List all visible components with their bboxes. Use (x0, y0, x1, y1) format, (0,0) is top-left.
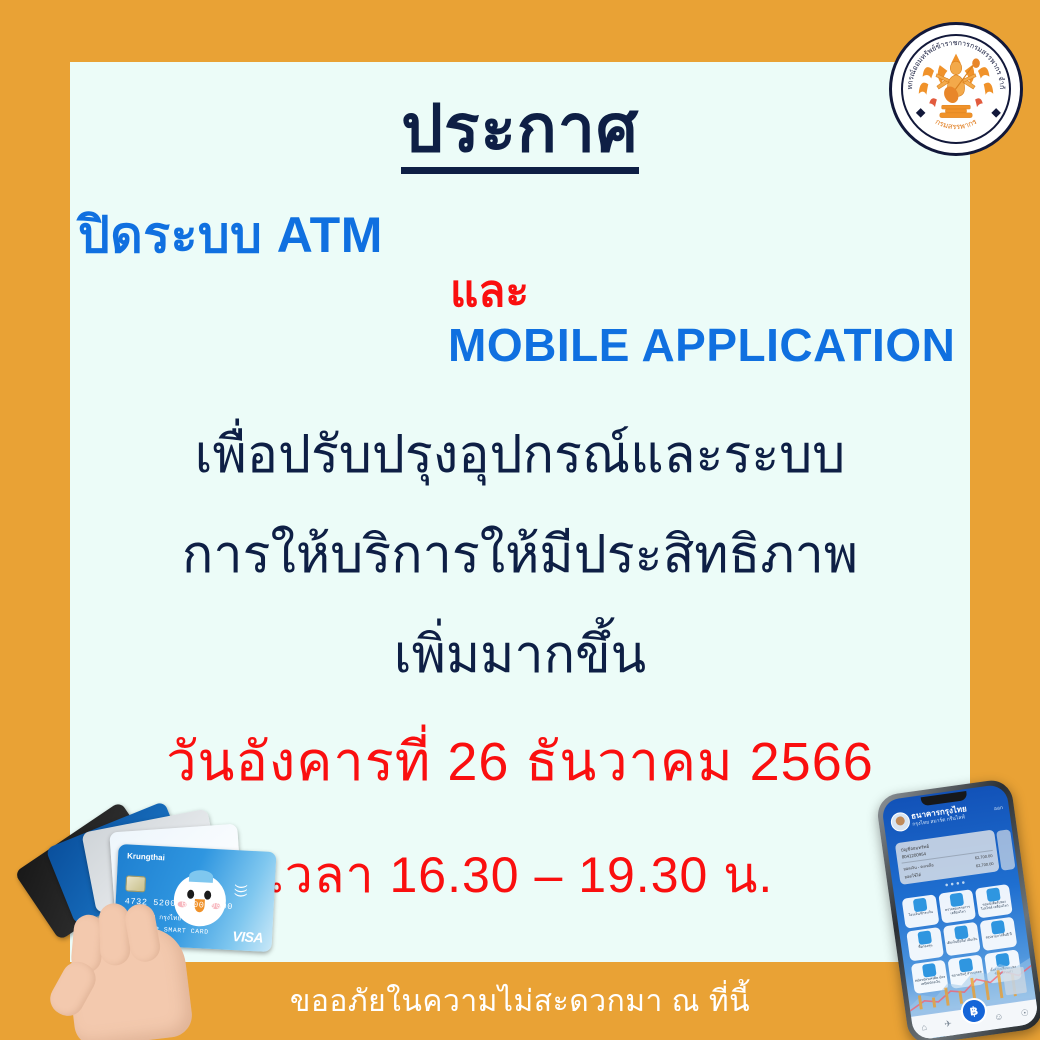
page-title-text: ประกาศ (401, 91, 639, 174)
phone-screen: ธนาคารกรุงไทย กรุงไทย สมาร์ต กรีนไลฟ์ ออ… (881, 783, 1039, 1040)
menu-tile[interactable]: ตรวจสอบรายการ เคลื่อนไหว (938, 889, 976, 923)
mascot-eye-right (204, 890, 211, 899)
mascot-eye-left (187, 890, 194, 899)
mascot-tuft (189, 870, 214, 883)
menu-tile[interactable]: โอนเงิน/ชำระเงิน (902, 894, 940, 928)
menu-tile-label: ขอหนังสือรับรอง โปรไฟล์ เคลื่อนไหว (977, 900, 1012, 912)
account-card-next[interactable] (996, 829, 1015, 871)
available-value: 62,700.00 (976, 861, 994, 868)
people-icon[interactable]: ☺ (994, 1011, 1005, 1022)
cooperative-seal-icon: สหกรณ์ออมทรัพย์ข้าราชการกรมสรรพากร จำกัด… (889, 22, 1023, 156)
menu-tile[interactable]: เติมเงินมือถือ/ เติมเงิน (943, 922, 981, 956)
send-icon[interactable]: ✈ (944, 1018, 953, 1030)
body-line-1: เพื่อปรับปรุงอุปกรณ์และระบบ (0, 412, 1040, 495)
menu-tile-label: โอนเงิน/ชำระเงิน (908, 911, 935, 918)
body-line-3: เพิ่มมากขึ้น (0, 612, 1040, 695)
headline-conjunction: และ (450, 256, 529, 326)
menu-tile-label: สรุปรายการสิ้นปี ปี (984, 933, 1013, 941)
menu-tile-label: ซื้อกองทุน (917, 944, 934, 950)
menu-tile-label: เติมเงินมือถือ/ เติมเงิน (946, 938, 979, 946)
seal-artwork: สหกรณ์ออมทรัพย์ข้าราชการกรมสรรพากร จำกัด… (892, 25, 1020, 153)
available-label: ยอดใช้ได้ (904, 871, 921, 880)
profile-icon[interactable]: ☉ (1020, 1007, 1030, 1019)
logout-link[interactable]: ออก (993, 804, 1003, 813)
hand-holding-cards (64, 923, 195, 1040)
visa-network-logo: VISA (232, 928, 263, 946)
outage-date: วันอังคารที่ 26 ธันวาคม 2566 (0, 718, 1040, 804)
menu-tile-label: ตรวจสอบรายการ เคลื่อนไหว (940, 905, 975, 917)
contactless-icon: ))) (234, 884, 250, 898)
body-line-2: การให้บริการให้มีประสิทธิภาพ (0, 512, 1040, 595)
svg-text:กรมสรรพากร: กรมสรรพากร (934, 117, 978, 131)
announcement-poster: ประกาศ ปิดระบบ ATM และ MOBILE APPLICATIO… (0, 0, 1040, 1040)
home-icon[interactable]: ⌂ (921, 1022, 928, 1033)
menu-tile[interactable]: สรุปรายการสิ้นปี ปี (979, 917, 1017, 951)
headline-atm: ปิดระบบ ATM (78, 196, 383, 275)
bank-card-fan-image: Krungthai ))) 4732 5200 0000 0000 0000 น… (8, 812, 288, 1040)
menu-tile[interactable]: ขอหนังสือรับรอง โปรไฟล์ เคลื่อนไหว (975, 884, 1013, 918)
balance-value: 62,700.00 (974, 853, 992, 860)
page-title: ประกาศ (0, 76, 1040, 181)
card-chip-icon (125, 875, 146, 892)
menu-tile[interactable]: ซื้อกองทุน (906, 927, 944, 961)
card-brand-label: Krungthai (127, 851, 165, 862)
avatar (890, 811, 911, 832)
headline-mobile-application: MOBILE APPLICATION (448, 318, 955, 372)
